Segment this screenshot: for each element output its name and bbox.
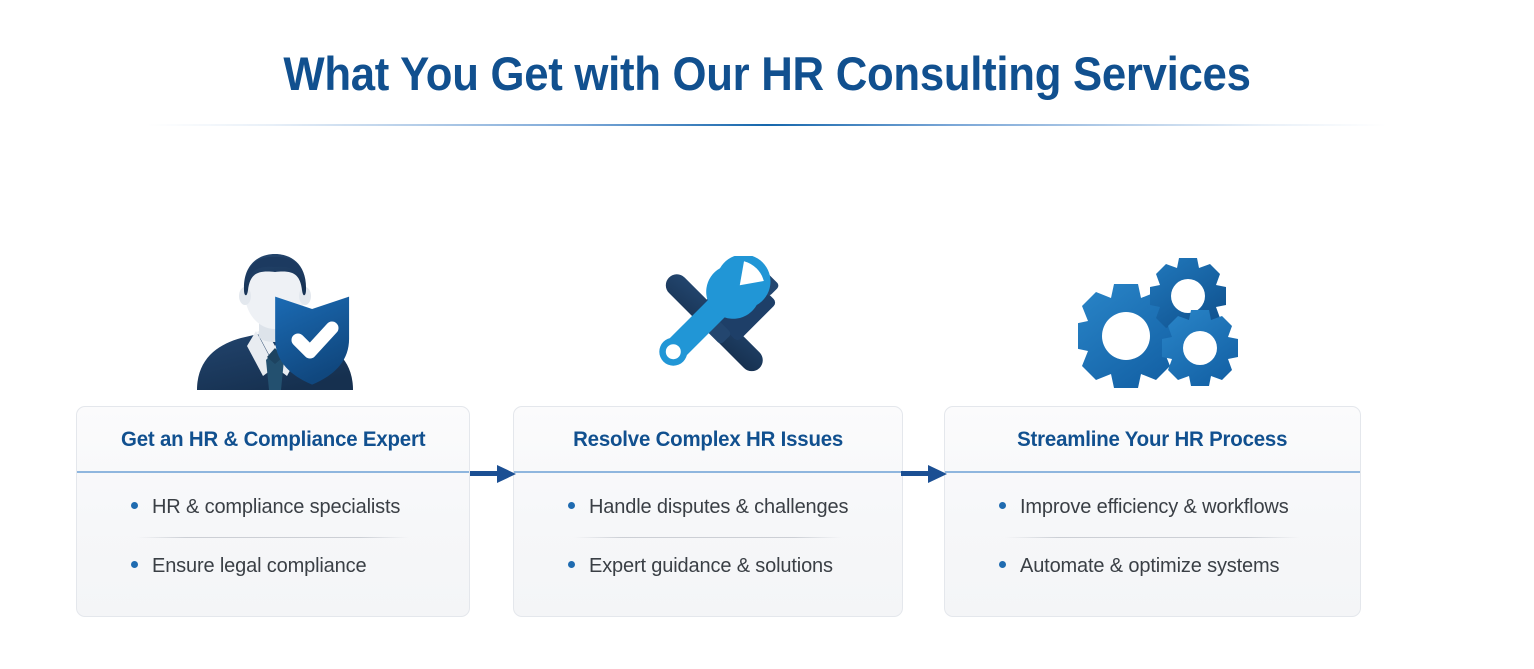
bullet-dot-icon <box>568 561 575 568</box>
list-item-label: Improve efficiency & workflows <box>1020 495 1289 520</box>
card-resolve-complex-hr-issues[interactable]: Resolve Complex HR Issues Handle dispute… <box>513 406 903 617</box>
card-body: HR & compliance specialists Ensure legal… <box>77 473 469 579</box>
page-title: What You Get with Our HR Consulting Serv… <box>54 46 1481 101</box>
list-item: HR & compliance specialists <box>103 495 443 520</box>
list-separator <box>1005 537 1300 538</box>
card-body: Handle disputes & challenges Expert guid… <box>514 473 902 579</box>
bullet-dot-icon <box>999 502 1006 509</box>
page-title-container: What You Get with Our HR Consulting Serv… <box>0 46 1534 101</box>
title-divider <box>147 124 1387 126</box>
card-body: Improve efficiency & workflows Automate … <box>945 473 1360 579</box>
card-streamline-hr-process[interactable]: Streamline Your HR Process Improve effic… <box>944 406 1361 617</box>
card-title: Streamline Your HR Process <box>1017 427 1287 452</box>
card-header: Get an HR & Compliance Expert <box>77 407 469 473</box>
list-item-label: Handle disputes & challenges <box>589 495 848 520</box>
gears-icon <box>1060 248 1260 396</box>
bullet-dot-icon <box>131 502 138 509</box>
arrow-card1-to-card2 <box>470 465 516 483</box>
list-item: Automate & optimize systems <box>971 554 1334 579</box>
businessman-shield-icon <box>175 248 375 396</box>
card-title: Get an HR & Compliance Expert <box>121 427 425 452</box>
arrow-card2-to-card3 <box>901 465 947 483</box>
card-title: Resolve Complex HR Issues <box>573 427 843 452</box>
list-item-label: HR & compliance specialists <box>152 495 400 520</box>
bullet-dot-icon <box>999 561 1006 568</box>
wrench-hammer-icon <box>615 248 815 396</box>
list-item: Handle disputes & challenges <box>540 495 876 520</box>
list-item-label: Expert guidance & solutions <box>589 554 833 579</box>
list-separator <box>137 537 409 538</box>
list-item-label: Automate & optimize systems <box>1020 554 1279 579</box>
bullet-dot-icon <box>568 502 575 509</box>
list-separator <box>574 537 842 538</box>
card-hr-compliance-expert[interactable]: Get an HR & Compliance Expert HR & compl… <box>76 406 470 617</box>
card-header: Streamline Your HR Process <box>945 407 1360 473</box>
infographic-canvas: What You Get with Our HR Consulting Serv… <box>0 0 1534 669</box>
list-item: Ensure legal compliance <box>103 554 443 579</box>
card-header: Resolve Complex HR Issues <box>514 407 902 473</box>
list-item: Expert guidance & solutions <box>540 554 876 579</box>
list-item: Improve efficiency & workflows <box>971 495 1334 520</box>
bullet-dot-icon <box>131 561 138 568</box>
list-item-label: Ensure legal compliance <box>152 554 366 579</box>
